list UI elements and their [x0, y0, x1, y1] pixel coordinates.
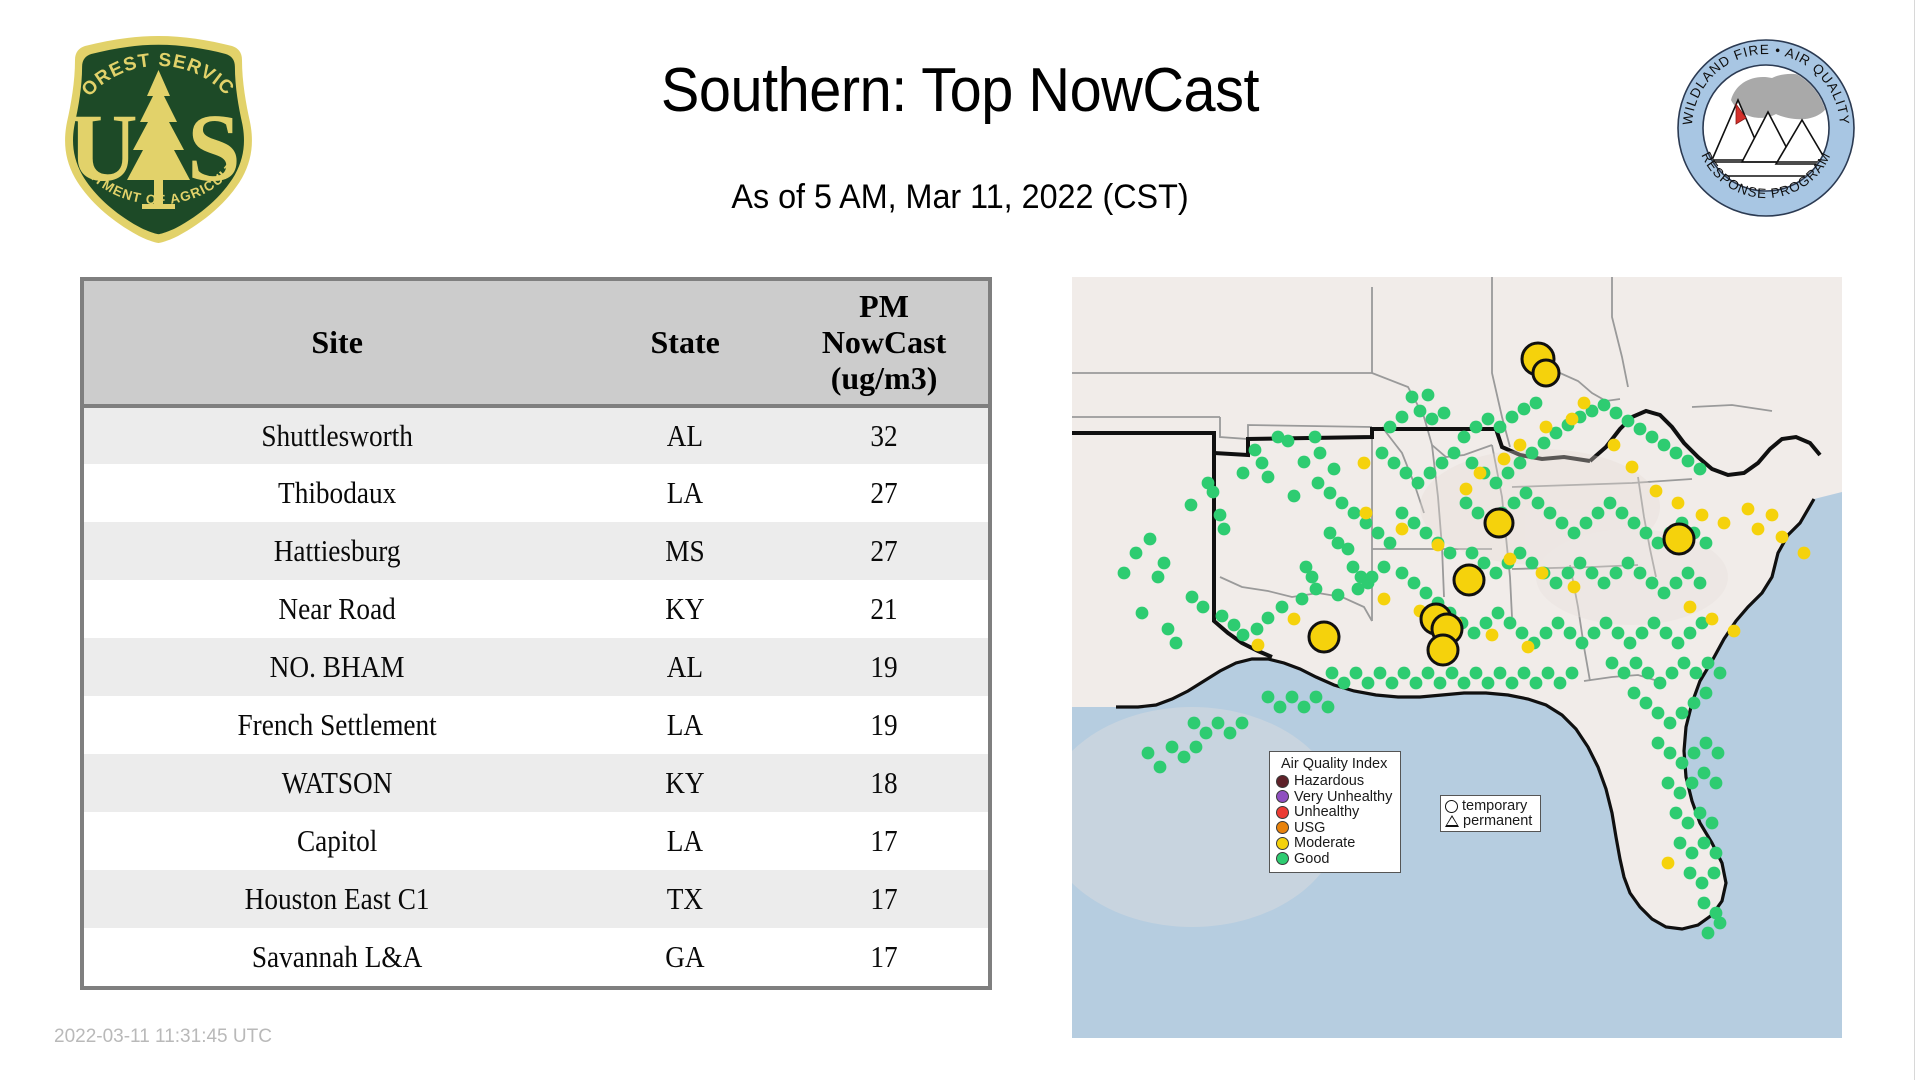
monitor-marker-good[interactable]: [1636, 627, 1649, 640]
monitor-marker-good[interactable]: [1566, 667, 1579, 680]
monitor-marker-good[interactable]: [1342, 543, 1355, 556]
monitor-marker-good[interactable]: [1237, 629, 1250, 642]
monitor-marker-good[interactable]: [1674, 837, 1687, 850]
monitor-marker-good[interactable]: [1256, 457, 1269, 470]
monitor-marker-top-site[interactable]: [1533, 360, 1559, 386]
monitor-marker-good[interactable]: [1494, 667, 1507, 680]
monitor-marker-good[interactable]: [1466, 547, 1479, 560]
cell-site: French Settlement: [84, 696, 590, 754]
monitor-marker-good[interactable]: [1444, 547, 1457, 560]
monitor-marker-good[interactable]: [1592, 507, 1605, 520]
monitor-marker-good[interactable]: [1298, 456, 1311, 469]
monitor-marker-good[interactable]: [1286, 691, 1299, 704]
monitor-marker-good[interactable]: [1396, 567, 1409, 580]
monitor-marker-good[interactable]: [1480, 617, 1493, 630]
monitor-marker-good[interactable]: [1696, 877, 1709, 890]
monitor-marker-moderate[interactable]: [1358, 457, 1371, 470]
monitor-marker-good[interactable]: [1604, 497, 1617, 510]
monitor-marker-good[interactable]: [1388, 457, 1401, 470]
monitor-marker-good[interactable]: [1652, 707, 1665, 720]
monitor-marker-good[interactable]: [1506, 411, 1519, 424]
monitor-marker-moderate[interactable]: [1728, 625, 1741, 638]
monitor-marker-good[interactable]: [1698, 837, 1711, 850]
monitor-marker-good[interactable]: [1288, 490, 1301, 503]
monitor-marker-good[interactable]: [1406, 391, 1419, 404]
monitor-marker-moderate[interactable]: [1662, 857, 1675, 870]
monitor-marker-moderate[interactable]: [1514, 439, 1527, 452]
monitor-marker-moderate[interactable]: [1672, 497, 1685, 510]
monitor-marker-good[interactable]: [1162, 623, 1175, 636]
monitor-marker-good[interactable]: [1237, 467, 1250, 480]
monitor-marker-good[interactable]: [1664, 717, 1677, 730]
monitor-marker-moderate[interactable]: [1696, 509, 1709, 522]
monitor-marker-good[interactable]: [1218, 523, 1231, 536]
monitor-marker-good[interactable]: [1646, 431, 1659, 444]
monitor-marker-good[interactable]: [1700, 537, 1713, 550]
monitor-marker-good[interactable]: [1694, 807, 1707, 820]
monitor-marker-good[interactable]: [1714, 667, 1727, 680]
monitor-marker-good[interactable]: [1276, 601, 1289, 614]
monitor-marker-good[interactable]: [1648, 617, 1661, 630]
monitor-marker-good[interactable]: [1610, 567, 1623, 580]
monitor-marker-good[interactable]: [1207, 486, 1220, 499]
monitor-marker-good[interactable]: [1490, 567, 1503, 580]
monitor-marker-good[interactable]: [1306, 571, 1319, 584]
monitor-marker-moderate[interactable]: [1718, 517, 1731, 530]
monitor-marker-good[interactable]: [1154, 761, 1167, 774]
monitor-marker-moderate[interactable]: [1252, 639, 1265, 652]
monitor-marker-good[interactable]: [1670, 807, 1683, 820]
monitor-marker-good[interactable]: [1676, 757, 1689, 770]
monitor-marker-good[interactable]: [1682, 567, 1695, 580]
monitor-marker-good[interactable]: [1420, 587, 1433, 600]
monitor-marker-good[interactable]: [1662, 777, 1675, 790]
monitor-marker-good[interactable]: [1532, 497, 1545, 510]
monitor-marker-good[interactable]: [1686, 847, 1699, 860]
monitor-marker-good[interactable]: [1309, 431, 1322, 444]
monitor-marker-good[interactable]: [1448, 447, 1461, 460]
cell-pm: 19: [780, 696, 988, 754]
monitor-marker-good[interactable]: [1436, 457, 1449, 470]
table-row: Near RoadKY21: [84, 580, 988, 638]
monitor-marker-good[interactable]: [1396, 411, 1409, 424]
cell-state-text: TX: [602, 881, 769, 917]
monitor-marker-good[interactable]: [1640, 697, 1653, 710]
monitor-marker-good[interactable]: [1654, 677, 1667, 690]
monitor-marker-good[interactable]: [1556, 517, 1569, 530]
monitor-marker-good[interactable]: [1426, 413, 1439, 426]
cell-site-text: NO. BHAM: [114, 649, 560, 685]
column-header-pm-nowcast: PM NowCast (ug/m3): [780, 281, 988, 406]
monitor-marker-good[interactable]: [1214, 509, 1227, 522]
aqi-legend-label: USG: [1294, 821, 1325, 836]
monitor-marker-good[interactable]: [1710, 777, 1723, 790]
monitor-marker-good[interactable]: [1376, 447, 1389, 460]
monitor-marker-good[interactable]: [1274, 701, 1287, 714]
cell-pm-text: 32: [793, 418, 976, 454]
cell-state: MS: [590, 522, 780, 580]
monitor-marker-good[interactable]: [1540, 627, 1553, 640]
monitor-marker-good[interactable]: [1492, 607, 1505, 620]
monitor-marker-moderate[interactable]: [1432, 539, 1445, 552]
monitor-marker-good[interactable]: [1682, 455, 1695, 468]
monitor-marker-good[interactable]: [1352, 583, 1365, 596]
monitor-marker-good[interactable]: [1398, 667, 1411, 680]
monitor-marker-good[interactable]: [1142, 747, 1155, 760]
monitor-marker-good[interactable]: [1526, 447, 1539, 460]
monitor-marker-good[interactable]: [1422, 667, 1435, 680]
monitor-marker-good[interactable]: [1249, 444, 1262, 457]
monitor-marker-good[interactable]: [1694, 577, 1707, 590]
monitor-marker-moderate[interactable]: [1474, 467, 1487, 480]
cell-site-text: Capitol: [114, 823, 560, 859]
monitor-marker-good[interactable]: [1298, 701, 1311, 714]
monitor-marker-good[interactable]: [1400, 467, 1413, 480]
monitor-marker-good[interactable]: [1136, 607, 1149, 620]
monitor-marker-good[interactable]: [1624, 637, 1637, 650]
monitor-marker-good[interactable]: [1482, 677, 1495, 690]
monitor-marker-good[interactable]: [1504, 617, 1517, 630]
monitor-marker-moderate[interactable]: [1522, 641, 1535, 654]
monitor-marker-good[interactable]: [1684, 627, 1697, 640]
monitor-marker-good[interactable]: [1372, 527, 1385, 540]
monitor-marker-moderate[interactable]: [1626, 461, 1639, 474]
monitor-marker-top-site[interactable]: [1485, 509, 1513, 537]
monitor-marker-good[interactable]: [1518, 403, 1531, 416]
cell-state: KY: [590, 580, 780, 638]
monitor-marker-good[interactable]: [1658, 587, 1671, 600]
site-type-legend: temporary permanent: [1440, 795, 1541, 832]
aqi-legend: Air Quality Index HazardousVery Unhealth…: [1269, 751, 1401, 873]
monitor-marker-good[interactable]: [1702, 927, 1715, 940]
aqi-legend-row: USG: [1276, 821, 1392, 836]
cell-pm: 27: [780, 464, 988, 522]
cell-state-text: LA: [602, 707, 769, 743]
monitor-marker-good[interactable]: [1386, 677, 1399, 690]
monitor-marker-good[interactable]: [1130, 547, 1143, 560]
monitor-marker-good[interactable]: [1610, 407, 1623, 420]
monitor-marker-good[interactable]: [1628, 687, 1641, 700]
monitor-marker-good[interactable]: [1314, 447, 1327, 460]
monitor-marker-good[interactable]: [1490, 477, 1503, 490]
monitor-marker-good[interactable]: [1185, 499, 1198, 512]
monitor-marker-good[interactable]: [1494, 421, 1507, 434]
monitor-marker-good[interactable]: [1338, 677, 1351, 690]
monitor-marker-good[interactable]: [1676, 707, 1689, 720]
table-header-row: Site State PM NowCast (ug/m3): [84, 281, 988, 406]
monitor-marker-good[interactable]: [1580, 517, 1593, 530]
monitor-marker-good[interactable]: [1186, 591, 1199, 604]
monitor-marker-moderate[interactable]: [1486, 629, 1499, 642]
monitor-marker-good[interactable]: [1482, 413, 1495, 426]
slide-canvas: U S FOREST SERVICE DEPARTMENT OF AGRICUL…: [0, 0, 1920, 1080]
monitor-marker-good[interactable]: [1166, 741, 1179, 754]
monitor-marker-good[interactable]: [1384, 421, 1397, 434]
monitor-marker-moderate[interactable]: [1798, 547, 1811, 560]
aqi-legend-label: Good: [1294, 852, 1329, 867]
monitor-marker-good[interactable]: [1682, 817, 1695, 830]
monitor-marker-good[interactable]: [1516, 627, 1529, 640]
monitor-marker-good[interactable]: [1152, 571, 1165, 584]
cell-site-text: Hattiesburg: [114, 533, 560, 569]
monitor-marker-good[interactable]: [1470, 421, 1483, 434]
monitor-marker-good[interactable]: [1642, 667, 1655, 680]
monitor-marker-good[interactable]: [1508, 497, 1521, 510]
monitor-marker-good[interactable]: [1710, 847, 1723, 860]
site-type-row-temporary: temporary: [1445, 799, 1532, 814]
monitor-marker-good[interactable]: [1598, 399, 1611, 412]
monitor-marker-moderate[interactable]: [1776, 531, 1789, 544]
monitor-marker-good[interactable]: [1396, 507, 1409, 520]
monitor-marker-good[interactable]: [1698, 897, 1711, 910]
monitor-marker-good[interactable]: [1322, 701, 1335, 714]
monitor-marker-good[interactable]: [1282, 435, 1295, 448]
monitor-marker-good[interactable]: [1690, 667, 1703, 680]
monitor-marker-good[interactable]: [1458, 677, 1471, 690]
monitor-marker-good[interactable]: [1408, 577, 1421, 590]
aqi-swatch-icon: [1276, 775, 1289, 788]
southern-region-air-quality-monitor-map[interactable]: Air Quality Index HazardousVery Unhealth…: [1072, 277, 1842, 1038]
monitor-marker-good[interactable]: [1598, 577, 1611, 590]
column-header-state: State: [590, 281, 780, 406]
monitor-marker-good[interactable]: [1366, 571, 1379, 584]
monitor-marker-moderate[interactable]: [1608, 439, 1621, 452]
monitor-marker-good[interactable]: [1458, 431, 1471, 444]
aqi-legend-label: Unhealthy: [1294, 805, 1359, 820]
monitor-marker-good[interactable]: [1144, 533, 1157, 546]
aqi-legend-label: Hazardous: [1294, 774, 1364, 789]
monitor-marker-good[interactable]: [1576, 637, 1589, 650]
monitor-marker-good[interactable]: [1640, 527, 1653, 540]
monitor-marker-good[interactable]: [1224, 727, 1237, 740]
monitor-marker-good[interactable]: [1296, 593, 1309, 606]
monitor-marker-good[interactable]: [1688, 747, 1701, 760]
monitor-marker-good[interactable]: [1408, 517, 1421, 530]
monitor-marker-good[interactable]: [1670, 447, 1683, 460]
monitor-marker-good[interactable]: [1606, 657, 1619, 670]
table-row: ThibodauxLA27: [84, 464, 988, 522]
monitor-marker-good[interactable]: [1586, 567, 1599, 580]
monitor-marker-moderate[interactable]: [1460, 483, 1473, 496]
monitor-marker-good[interactable]: [1520, 487, 1533, 500]
monitor-marker-good[interactable]: [1228, 619, 1241, 632]
monitor-marker-good[interactable]: [1652, 737, 1665, 750]
monitor-marker-good[interactable]: [1158, 557, 1171, 570]
monitor-marker-good[interactable]: [1466, 457, 1479, 470]
monitor-marker-good[interactable]: [1420, 527, 1433, 540]
monitor-marker-good[interactable]: [1708, 867, 1721, 880]
monitor-marker-good[interactable]: [1200, 727, 1213, 740]
monitor-marker-good[interactable]: [1616, 507, 1629, 520]
monitor-marker-moderate[interactable]: [1684, 601, 1697, 614]
monitor-marker-good[interactable]: [1506, 677, 1519, 690]
monitor-marker-good[interactable]: [1262, 471, 1275, 484]
monitor-marker-good[interactable]: [1552, 617, 1565, 630]
monitor-marker-good[interactable]: [1197, 601, 1210, 614]
cell-site-text: Savannah L&A: [114, 939, 560, 975]
table-row: CapitolLA17: [84, 812, 988, 870]
monitor-marker-good[interactable]: [1660, 627, 1673, 640]
monitor-marker-good[interactable]: [1666, 667, 1679, 680]
monitor-marker-moderate[interactable]: [1742, 503, 1755, 516]
monitor-marker-good[interactable]: [1706, 817, 1719, 830]
monitor-marker-good[interactable]: [1347, 561, 1360, 574]
monitor-marker-good[interactable]: [1216, 610, 1229, 623]
monitor-marker-good[interactable]: [1518, 667, 1531, 680]
table-row: NO. BHAMAL19: [84, 638, 988, 696]
monitor-marker-good[interactable]: [1336, 497, 1349, 510]
monitor-marker-moderate[interactable]: [1498, 453, 1511, 466]
monitor-marker-good[interactable]: [1652, 537, 1665, 550]
monitor-marker-moderate[interactable]: [1378, 593, 1391, 606]
monitor-marker-good[interactable]: [1526, 557, 1539, 570]
cell-state: LA: [590, 696, 780, 754]
monitor-marker-good[interactable]: [1384, 537, 1397, 550]
monitor-marker-good[interactable]: [1348, 507, 1361, 520]
monitor-marker-good[interactable]: [1698, 767, 1711, 780]
cell-pm: 17: [780, 812, 988, 870]
monitor-marker-good[interactable]: [1434, 677, 1447, 690]
monitor-marker-good[interactable]: [1630, 657, 1643, 670]
monitor-marker-top-site[interactable]: [1454, 565, 1484, 595]
monitor-marker-good[interactable]: [1438, 407, 1451, 420]
monitor-marker-good[interactable]: [1178, 751, 1191, 764]
monitor-marker-good[interactable]: [1694, 463, 1707, 476]
monitor-marker-good[interactable]: [1700, 737, 1713, 750]
monitor-marker-good[interactable]: [1544, 507, 1557, 520]
monitor-marker-good[interactable]: [1542, 667, 1555, 680]
monitor-marker-good[interactable]: [1658, 439, 1671, 452]
monitor-marker-good[interactable]: [1378, 561, 1391, 574]
monitor-marker-good[interactable]: [1646, 577, 1659, 590]
monitor-marker-good[interactable]: [1600, 617, 1613, 630]
cell-state-text: KY: [602, 765, 769, 801]
monitor-marker-good[interactable]: [1622, 415, 1635, 428]
monitor-marker-good[interactable]: [1190, 741, 1203, 754]
cell-site: NO. BHAM: [84, 638, 590, 696]
monitor-marker-good[interactable]: [1414, 405, 1427, 418]
monitor-marker-good[interactable]: [1514, 457, 1527, 470]
monitor-marker-good[interactable]: [1684, 867, 1697, 880]
monitor-marker-moderate[interactable]: [1504, 553, 1517, 566]
monitor-marker-good[interactable]: [1538, 437, 1551, 450]
monitor-marker-good[interactable]: [1702, 657, 1715, 670]
monitor-marker-good[interactable]: [1460, 497, 1473, 510]
monitor-marker-good[interactable]: [1550, 577, 1563, 590]
monitor-marker-good[interactable]: [1700, 687, 1713, 700]
monitor-marker-good[interactable]: [1410, 677, 1423, 690]
monitor-marker-good[interactable]: [1324, 527, 1337, 540]
monitor-marker-moderate[interactable]: [1540, 421, 1553, 434]
monitor-marker-good[interactable]: [1324, 487, 1337, 500]
monitor-marker-good[interactable]: [1628, 517, 1641, 530]
monitor-marker-good[interactable]: [1350, 667, 1363, 680]
monitor-marker-good[interactable]: [1634, 423, 1647, 436]
cell-pm-text: 17: [793, 939, 976, 975]
cell-pm-text: 27: [793, 475, 976, 511]
monitor-marker-good[interactable]: [1470, 667, 1483, 680]
monitor-marker-good[interactable]: [1212, 717, 1225, 730]
monitor-marker-good[interactable]: [1424, 467, 1437, 480]
monitor-marker-good[interactable]: [1332, 589, 1345, 602]
monitor-marker-good[interactable]: [1568, 527, 1581, 540]
monitor-marker-good[interactable]: [1362, 677, 1375, 690]
monitor-marker-moderate[interactable]: [1650, 485, 1663, 498]
monitor-marker-good[interactable]: [1310, 583, 1323, 596]
monitor-marker-good[interactable]: [1446, 667, 1459, 680]
monitor-marker-good[interactable]: [1312, 477, 1325, 490]
monitor-marker-good[interactable]: [1118, 567, 1131, 580]
monitor-marker-moderate[interactable]: [1706, 613, 1719, 626]
monitor-marker-good[interactable]: [1502, 467, 1515, 480]
monitor-marker-top-site[interactable]: [1309, 622, 1339, 652]
pm-header-line-1: PM: [859, 288, 909, 324]
monitor-marker-good[interactable]: [1530, 397, 1543, 410]
monitor-marker-good[interactable]: [1328, 463, 1341, 476]
monitor-marker-good[interactable]: [1472, 507, 1485, 520]
monitor-marker-good[interactable]: [1562, 567, 1575, 580]
monitor-marker-good[interactable]: [1170, 637, 1183, 650]
monitor-marker-good[interactable]: [1612, 627, 1625, 640]
monitor-marker-moderate[interactable]: [1766, 509, 1779, 522]
monitor-marker-good[interactable]: [1664, 747, 1677, 760]
monitor-marker-good[interactable]: [1310, 691, 1323, 704]
cell-pm: 18: [780, 754, 988, 812]
monitor-marker-good[interactable]: [1251, 623, 1264, 636]
aqi-swatch-icon: [1276, 837, 1289, 850]
monitor-marker-good[interactable]: [1262, 612, 1275, 625]
monitor-marker-good[interactable]: [1686, 777, 1699, 790]
monitor-marker-good[interactable]: [1618, 667, 1631, 680]
monitor-marker-moderate[interactable]: [1288, 613, 1301, 626]
monitor-marker-good[interactable]: [1326, 667, 1339, 680]
monitor-marker-good[interactable]: [1262, 691, 1275, 704]
circle-outline-icon: [1445, 800, 1458, 813]
monitor-marker-moderate[interactable]: [1568, 581, 1581, 594]
cell-site: Shuttlesworth: [84, 406, 590, 464]
monitor-marker-top-site[interactable]: [1428, 635, 1458, 665]
cell-state-text: KY: [602, 591, 769, 627]
monitor-marker-top-site[interactable]: [1664, 524, 1694, 554]
monitor-marker-moderate[interactable]: [1360, 507, 1373, 520]
monitor-marker-moderate[interactable]: [1566, 413, 1579, 426]
monitor-marker-good[interactable]: [1688, 697, 1701, 710]
monitor-marker-good[interactable]: [1422, 389, 1435, 402]
monitor-marker-good[interactable]: [1712, 747, 1725, 760]
monitor-marker-moderate[interactable]: [1396, 523, 1409, 536]
monitor-marker-good[interactable]: [1564, 627, 1577, 640]
monitor-marker-good[interactable]: [1714, 917, 1727, 930]
monitor-marker-good[interactable]: [1574, 557, 1587, 570]
monitor-marker-moderate[interactable]: [1752, 523, 1765, 536]
monitor-marker-good[interactable]: [1530, 677, 1543, 690]
monitor-marker-good[interactable]: [1412, 477, 1425, 490]
monitor-marker-moderate[interactable]: [1578, 397, 1591, 410]
monitor-marker-good[interactable]: [1588, 627, 1601, 640]
monitor-marker-good[interactable]: [1188, 717, 1201, 730]
monitor-marker-good[interactable]: [1554, 677, 1567, 690]
monitor-marker-good[interactable]: [1374, 667, 1387, 680]
monitor-marker-good[interactable]: [1622, 557, 1635, 570]
monitor-marker-good[interactable]: [1672, 637, 1685, 650]
monitor-marker-good[interactable]: [1236, 717, 1249, 730]
monitor-marker-good[interactable]: [1468, 627, 1481, 640]
monitor-marker-good[interactable]: [1634, 567, 1647, 580]
monitor-marker-good[interactable]: [1670, 577, 1683, 590]
monitor-marker-good[interactable]: [1674, 787, 1687, 800]
monitor-marker-good[interactable]: [1678, 657, 1691, 670]
monitor-marker-moderate[interactable]: [1536, 567, 1549, 580]
